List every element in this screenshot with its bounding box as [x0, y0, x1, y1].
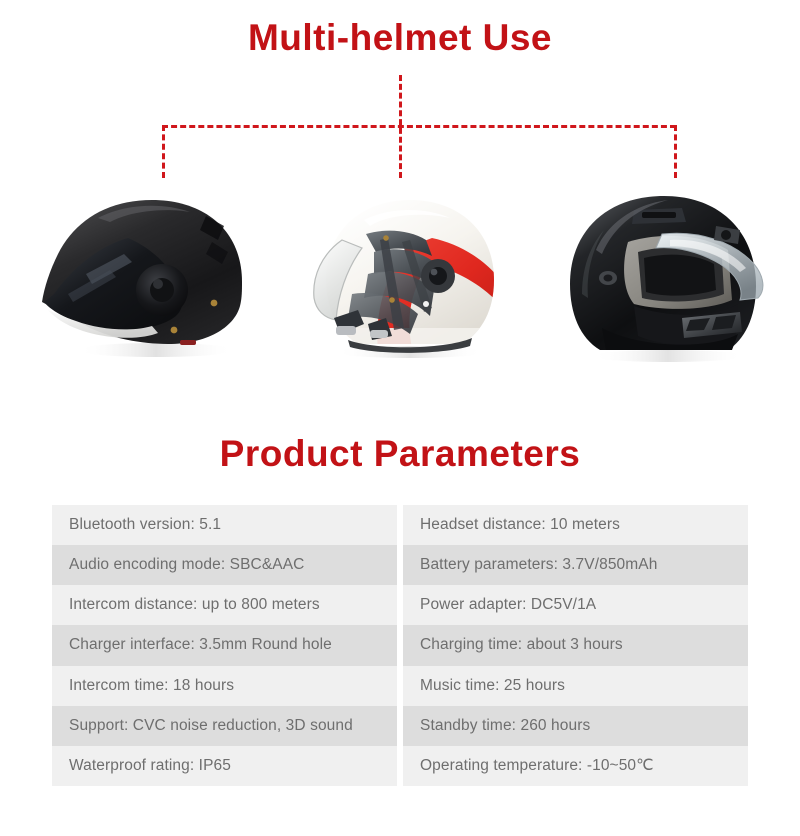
bracket-right-drop [674, 125, 677, 178]
table-row: Audio encoding mode: SBC&AAC [52, 545, 397, 585]
table-row: Intercom distance: up to 800 meters [52, 585, 397, 625]
matte-black-open-face-helmet-icon [28, 178, 278, 373]
parameters-right-column: Headset distance: 10 meters Battery para… [403, 505, 748, 786]
table-row: Charging time: about 3 hours [403, 625, 748, 665]
table-row: Standby time: 260 hours [403, 706, 748, 746]
product-parameters-table: Bluetooth version: 5.1 Audio encoding mo… [52, 505, 748, 786]
page-title-multi-helmet-use: Multi-helmet Use [0, 16, 800, 60]
table-row: Bluetooth version: 5.1 [52, 505, 397, 545]
helmet-image-matte-black-open-face [28, 178, 278, 373]
bracket-center-stem [399, 75, 402, 178]
bracket-crossbar [162, 125, 676, 128]
table-row: Battery parameters: 3.7V/850mAh [403, 545, 748, 585]
table-row: Power adapter: DC5V/1A [403, 585, 748, 625]
helmet-image-black-full-face-modular [542, 178, 792, 373]
helmet-image-row [0, 178, 800, 373]
helmet-image-white-red-stripe-open-face [282, 178, 532, 373]
white-red-stripe-open-face-helmet-icon [282, 178, 532, 373]
page-title-product-parameters: Product Parameters [0, 432, 800, 476]
table-row: Intercom time: 18 hours [52, 666, 397, 706]
table-row: Operating temperature: -10~50℃ [403, 746, 748, 786]
table-row: Headset distance: 10 meters [403, 505, 748, 545]
table-row: Charger interface: 3.5mm Round hole [52, 625, 397, 665]
table-row: Support: CVC noise reduction, 3D sound [52, 706, 397, 746]
black-full-face-modular-helmet-icon [542, 178, 792, 373]
table-row: Music time: 25 hours [403, 666, 748, 706]
bracket-left-drop [162, 125, 165, 178]
parameters-left-column: Bluetooth version: 5.1 Audio encoding mo… [52, 505, 397, 786]
table-row: Waterproof rating: IP65 [52, 746, 397, 786]
